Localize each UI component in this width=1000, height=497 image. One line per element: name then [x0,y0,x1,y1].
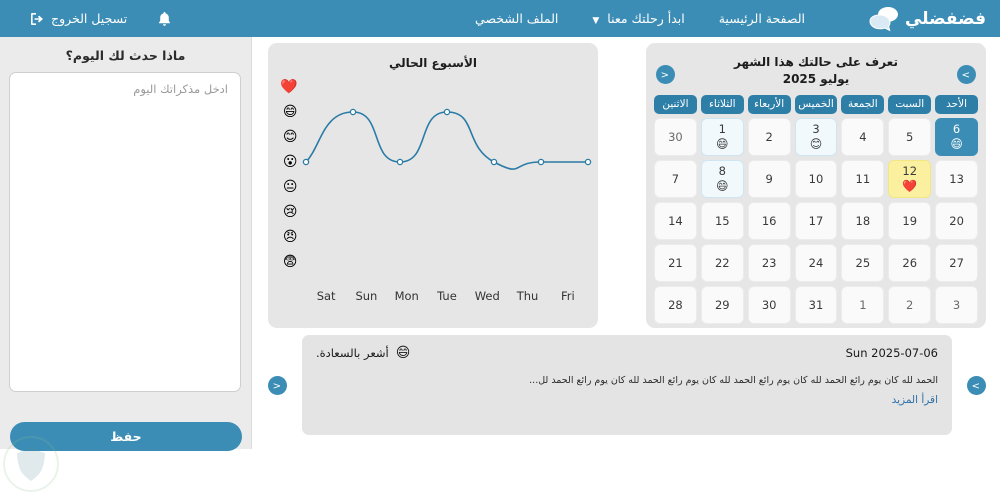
calendar-day-number: 22 [715,257,730,270]
day-header-monday[interactable]: الاثنين [654,95,697,114]
calendar-week-row: 20191817161514 [654,202,978,240]
x-tick-thu: Thu [507,289,547,303]
calendar-day-number: 26 [902,257,917,270]
calendar-day-number: 23 [762,257,777,270]
calendar-day-1[interactable]: 1 [841,286,884,324]
calendar-week-row: 27262524232221 [654,244,978,282]
mood-line-chart [268,77,598,292]
speech-bubble-icon [869,6,899,32]
calendar-day-number: 6 [953,123,960,136]
calendar-day-11[interactable]: 11 [841,160,884,198]
calendar-prev-button[interactable]: < [656,65,675,84]
diary-title: ماذا حدث لك اليوم؟ [10,48,241,63]
calendar-day-2[interactable]: 2 [888,286,931,324]
calendar-day-number: 12 [902,165,917,178]
calendar-day-2[interactable]: 2 [748,118,791,156]
monthly-mood-calendar: < > تعرف على حالتك هذا الشهر يوليو 2025 … [646,43,986,328]
read-more-link[interactable]: اقرأ المزيد [892,394,938,406]
logout-label: تسجيل الخروج [51,11,127,26]
calendar-day-18[interactable]: 18 [841,202,884,240]
calendar-day-number: 11 [856,173,871,186]
diary-panel: ماذا حدث لك اليوم؟ حفظ [0,37,252,449]
data-point-thu[interactable] [538,159,543,164]
mood-emoji-icon: 😄 [950,137,963,151]
brand-logo[interactable]: فضفضلي [869,6,986,32]
calendar-day-number: 13 [949,173,964,186]
calendar-day-number: 7 [672,173,679,186]
data-point-fri[interactable] [585,159,590,164]
calendar-day-number: 15 [715,215,730,228]
calendar-day-22[interactable]: 22 [701,244,744,282]
calendar-dayheader-row: الأحد السبت الجمعة الخميس الأربعاء الثلا… [654,95,978,114]
entry-prev-button[interactable]: < [268,376,287,395]
calendar-day-4[interactable]: 4 [841,118,884,156]
data-point-mon[interactable] [397,159,402,164]
mood-emoji-icon: 😊 [810,137,823,151]
entry-next-button[interactable]: > [967,376,986,395]
x-tick-sat: Sat [306,289,346,303]
calendar-day-29[interactable]: 29 [701,286,744,324]
calendar-day-number: 1 [719,123,726,136]
calendar-day-20[interactable]: 20 [935,202,978,240]
nav-links: الصفحة الرئيسية ابدأ رحلتك معنا ▼ الملف … [475,11,805,26]
calendar-heading: تعرف على حالتك هذا الشهر [654,51,978,69]
calendar-week-row: 32131302928 [654,286,978,324]
calendar-day-number: 30 [762,299,777,312]
calendar-day-1[interactable]: 1😄 [701,118,744,156]
calendar-day-number: 30 [668,131,683,144]
calendar-day-5[interactable]: 5 [888,118,931,156]
calendar-day-14[interactable]: 14 [654,202,697,240]
logout-button[interactable]: تسجيل الخروج [30,11,127,26]
entry-body-text: الحمد لله كان يوم رائع الحمد لله كان يوم… [316,374,938,388]
calendar-day-number: 8 [719,165,726,178]
top-navbar: فضفضلي الصفحة الرئيسية ابدأ رحلتك معنا ▼… [0,0,1000,37]
day-header-wednesday[interactable]: الأربعاء [748,95,791,114]
diary-entry-card[interactable]: Sun 2025-07-06 😄 أشعر بالسعادة. الحمد لل… [302,335,952,435]
calendar-day-number: 27 [949,257,964,270]
calendar-day-number: 31 [809,299,824,312]
calendar-day-13[interactable]: 13 [935,160,978,198]
calendar-weeks: 6😄543😊21😄301312❤️111098😄7201918171615142… [654,118,978,324]
chart-x-axis: Sat Sun Mon Tue Wed Thu Fri [306,289,588,303]
calendar-header: < > تعرف على حالتك هذا الشهر يوليو 2025 [654,51,978,95]
calendar-day-3[interactable]: 3 [935,286,978,324]
calendar-grid: الأحد السبت الجمعة الخميس الأربعاء الثلا… [654,95,978,324]
data-point-tue[interactable] [444,109,449,114]
weekly-mood-chart-card: الأسبوع الحالي ❤️ 😄 😊 😮 😐 😢 😠 😨 Sat Sun … [268,43,598,328]
x-tick-mon: Mon [387,289,427,303]
calendar-day-number: 5 [906,131,913,144]
chevron-down-icon: ▼ [592,16,599,26]
x-tick-fri: Fri [548,289,588,303]
calendar-day-26[interactable]: 26 [888,244,931,282]
mood-emoji-icon: ❤️ [902,179,917,193]
logout-icon [30,12,44,26]
data-point-sun[interactable] [350,109,355,114]
calendar-week-row: 6😄543😊21😄30 [654,118,978,156]
calendar-day-number: 29 [715,299,730,312]
day-header-friday[interactable]: الجمعة [841,95,884,114]
calendar-day-10[interactable]: 10 [795,160,838,198]
calendar-day-31[interactable]: 31 [795,286,838,324]
calendar-day-number: 28 [668,299,683,312]
calendar-day-number: 17 [809,215,824,228]
calendar-day-17[interactable]: 17 [795,202,838,240]
mood-emoji-icon: 😄 [716,137,729,151]
calendar-day-15[interactable]: 15 [701,202,744,240]
calendar-day-27[interactable]: 27 [935,244,978,282]
calendar-day-21[interactable]: 21 [654,244,697,282]
calendar-day-19[interactable]: 19 [888,202,931,240]
page-body: ماذا حدث لك اليوم؟ حفظ الأسبوع الحالي ❤️… [0,37,1000,449]
day-header-tuesday[interactable]: الثلاثاء [701,95,744,114]
calendar-day-30[interactable]: 30 [748,286,791,324]
calendar-day-number: 18 [856,215,871,228]
x-tick-sun: Sun [346,289,386,303]
calendar-day-23[interactable]: 23 [748,244,791,282]
data-point-sat[interactable] [303,159,308,164]
calendar-day-number: 3 [953,299,960,312]
calendar-day-number: 2 [765,131,772,144]
calendar-week-row: 1312❤️111098😄7 [654,160,978,198]
calendar-day-28[interactable]: 28 [654,286,697,324]
calendar-month-label: يوليو 2025 [654,69,978,86]
mood-line-series [306,112,588,169]
brand-name: فضفضلي [905,9,986,29]
nav-item-profile[interactable]: الملف الشخصي [475,11,558,26]
calendar-day-25[interactable]: 25 [841,244,884,282]
calendar-day-number: 10 [809,173,824,186]
entry-date: Sun 2025-07-06 [846,346,938,360]
calendar-day-30[interactable]: 30 [654,118,697,156]
calendar-day-number: 19 [902,215,917,228]
diary-textarea[interactable] [9,72,241,392]
calendar-day-9[interactable]: 9 [748,160,791,198]
data-point-wed[interactable] [491,159,496,164]
entry-mood: 😄 أشعر بالسعادة. [316,345,410,361]
calendar-day-number: 2 [906,299,913,312]
day-header-thursday[interactable]: الخميس [795,95,838,114]
day-header-sunday[interactable]: الأحد [935,95,978,114]
calendar-day-number: 1 [859,299,866,312]
calendar-day-3[interactable]: 3😊 [795,118,838,156]
save-button[interactable]: حفظ [10,422,242,451]
chart-area: ❤️ 😄 😊 😮 😐 😢 😠 😨 Sat Sun Mon Tue Wed Thu… [268,77,598,327]
calendar-day-number: 20 [949,215,964,228]
calendar-day-number: 21 [668,257,683,270]
entry-mood-text: أشعر بالسعادة. [316,346,389,360]
calendar-day-number: 25 [856,257,871,270]
calendar-day-12[interactable]: 12❤️ [888,160,931,198]
calendar-next-button[interactable]: > [957,65,976,84]
nav-item-home[interactable]: الصفحة الرئيسية [719,11,805,26]
calendar-day-number: 3 [812,123,819,136]
calendar-day-16[interactable]: 16 [748,202,791,240]
calendar-day-number: 24 [809,257,824,270]
calendar-day-8[interactable]: 8😄 [701,160,744,198]
laughing-face-icon: 😄 [396,345,411,361]
entry-carousel: < > Sun 2025-07-06 😄 أشعر بالسعادة. الحم… [268,335,986,443]
nav-item-start-journey-label: ابدأ رحلتك معنا [607,11,684,26]
calendar-day-6[interactable]: 6😄 [935,118,978,156]
calendar-day-number: 9 [765,173,772,186]
x-tick-tue: Tue [427,289,467,303]
calendar-day-7[interactable]: 7 [654,160,697,198]
calendar-day-number: 14 [668,215,683,228]
x-tick-wed: Wed [467,289,507,303]
calendar-day-number: 16 [762,215,777,228]
navbar-right-group: تسجيل الخروج [30,11,172,27]
calendar-day-number: 4 [859,131,866,144]
nav-item-start-journey[interactable]: ابدأ رحلتك معنا ▼ [592,11,684,26]
bell-icon[interactable] [157,11,172,27]
chart-title: الأسبوع الحالي [268,43,598,70]
entry-header: Sun 2025-07-06 😄 أشعر بالسعادة. [316,345,938,361]
calendar-day-24[interactable]: 24 [795,244,838,282]
mood-emoji-icon: 😄 [716,179,729,193]
day-header-saturday[interactable]: السبت [888,95,931,114]
